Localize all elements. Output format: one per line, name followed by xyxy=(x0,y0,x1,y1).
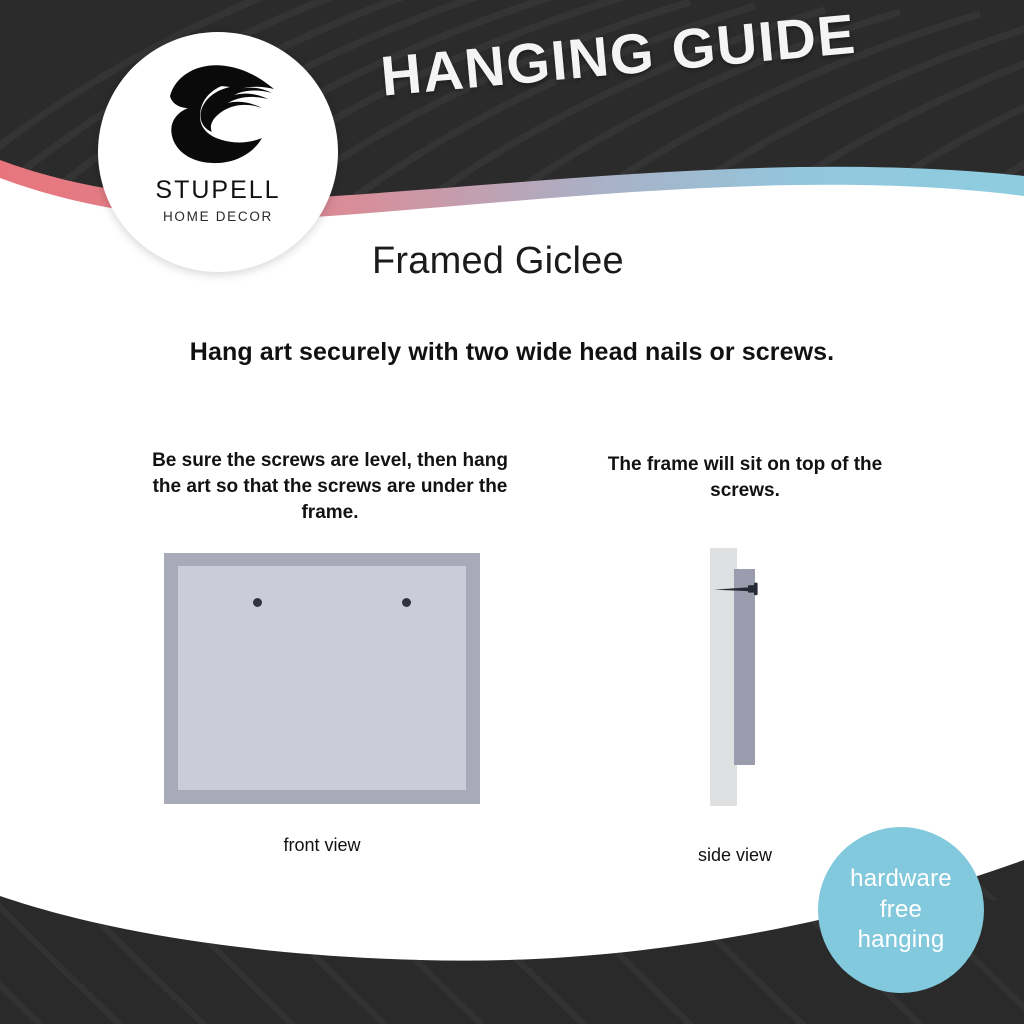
brand-tagline: HOME DECOR xyxy=(163,209,273,224)
front-view-caption: Be sure the screws are level, then hang … xyxy=(150,448,510,527)
brand-logo-badge: STUPELL HOME DECOR xyxy=(98,32,338,272)
side-view-frame xyxy=(734,569,755,765)
product-type-label: Framed Giclee xyxy=(372,240,624,283)
badge-line-3: hanging xyxy=(858,925,945,956)
main-instruction-text: Hang art securely with two wide head nai… xyxy=(0,338,1024,367)
front-view-mat xyxy=(178,566,466,790)
side-view-label: side view xyxy=(640,845,830,866)
badge-line-2: free xyxy=(880,895,922,926)
page-title: HANGING GUIDE xyxy=(378,1,859,109)
front-view-label: front view xyxy=(180,835,464,856)
front-view-diagram xyxy=(164,553,480,804)
hanging-guide-page: STUPELL HOME DECOR HANGING GUIDE Framed … xyxy=(0,0,1024,1024)
brand-name: STUPELL xyxy=(155,176,280,205)
badge-line-1: hardware xyxy=(850,864,952,895)
stupell-swoosh-icon xyxy=(154,56,282,174)
hardware-free-badge: hardware free hanging xyxy=(818,827,984,993)
screw-dot-right-icon xyxy=(402,598,411,607)
side-view-caption: The frame will sit on top of the screws. xyxy=(600,452,890,504)
side-view-diagram xyxy=(700,548,780,810)
screw-dot-left-icon xyxy=(253,598,262,607)
nail-icon xyxy=(712,581,764,597)
